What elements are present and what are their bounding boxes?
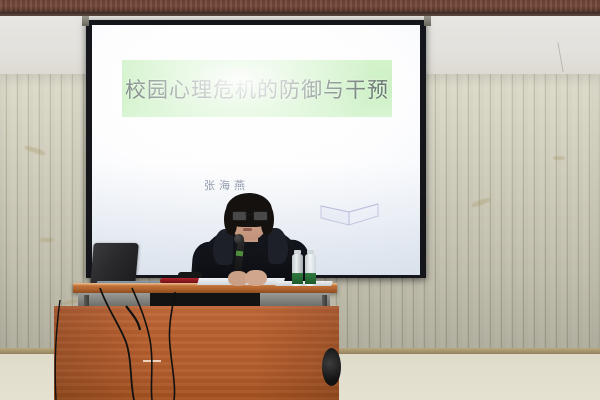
microphone-head xyxy=(234,234,244,244)
podium-shading xyxy=(54,306,339,400)
water-bottle-2 xyxy=(305,254,316,286)
podium-mark xyxy=(143,360,161,362)
slide-title-band: 校园心理危机的防御与干预 xyxy=(122,60,392,117)
paper-documents-secondary xyxy=(275,281,332,286)
loudspeaker xyxy=(322,348,341,386)
microphone-band xyxy=(236,251,243,257)
slide-presenter-name: 张海燕 xyxy=(204,177,249,193)
open-book-icon xyxy=(318,197,382,227)
eyeglasses-icon xyxy=(232,211,266,219)
laptop-screen xyxy=(90,243,139,285)
water-bottle-1 xyxy=(292,254,303,286)
screen-bracket-left xyxy=(82,16,89,26)
desk-shadow-gap xyxy=(150,293,260,306)
person-mouth xyxy=(243,228,252,231)
person-hand-right xyxy=(245,270,267,286)
screen-bracket-right xyxy=(424,16,431,26)
lecture-hall-photo: 校园心理危机的防御与干预 张海燕 xyxy=(0,0,600,400)
slide-title: 校园心理危机的防御与干预 xyxy=(125,74,389,104)
